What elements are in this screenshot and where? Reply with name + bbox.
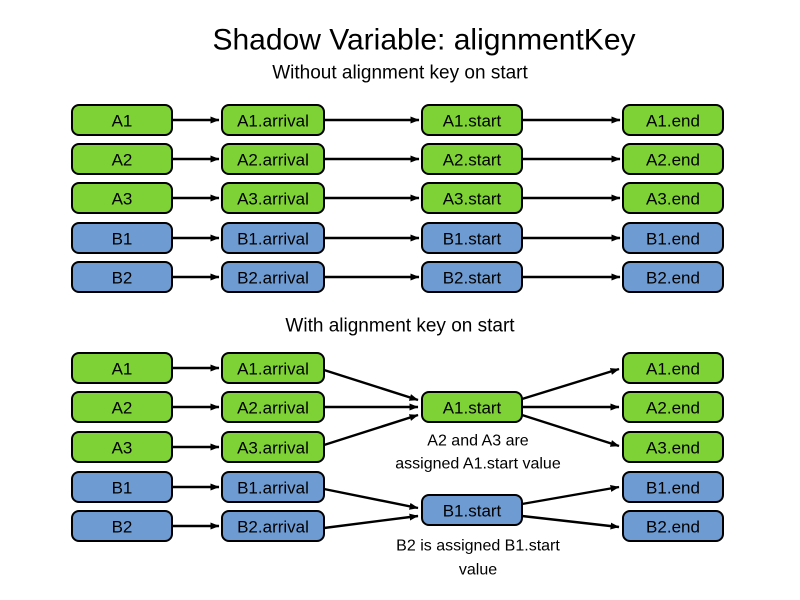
s2-box-end-b2[interactable]: B2.end	[623, 511, 723, 541]
edge2-a3-arrival-to-shared-start-a	[324, 415, 418, 445]
slide-canvas: Shadow Variable: alignmentKey Without al…	[0, 0, 800, 600]
s2-box-arrival-a1-label: A1.arrival	[237, 360, 309, 379]
s2-box-end-a2-label: A2.end	[646, 399, 700, 418]
note-a-line2: assigned A1.start value	[395, 456, 561, 473]
s2-box-end-a3-label: A3.end	[646, 439, 700, 458]
s1-box-end-a1[interactable]: A1.end	[623, 105, 723, 135]
s2-box-shared-start-b[interactable]: B1.start	[422, 495, 522, 525]
s1-box-start-b1[interactable]: B1.start	[422, 223, 522, 253]
s2-box-arrival-b2[interactable]: B2.arrival	[222, 511, 324, 541]
s1-box-entity-b2-label: B2	[112, 269, 133, 288]
edge2-b2-arrival-to-shared-start-b	[324, 516, 418, 528]
s1-box-arrival-a1-label: A1.arrival	[237, 112, 309, 131]
s2-box-end-b2-label: B2.end	[646, 518, 700, 537]
s2-box-arrival-a3[interactable]: A3.arrival	[222, 432, 324, 462]
s1-box-entity-a1[interactable]: A1	[72, 105, 172, 135]
s2-box-end-a1-label: A1.end	[646, 360, 700, 379]
s1-box-start-a1[interactable]: A1.start	[422, 105, 522, 135]
edge2-a1-arrival-to-shared-start-a	[324, 370, 418, 400]
note-a-line1: A2 and A3 are	[427, 433, 529, 450]
edge2-shared-start-b-to-b1-end	[522, 487, 619, 504]
s2-box-arrival-a3-label: A3.arrival	[237, 439, 309, 458]
s1-box-end-a3[interactable]: A3.end	[623, 183, 723, 213]
s2-box-arrival-b1[interactable]: B1.arrival	[222, 472, 324, 502]
edge2-shared-start-a-to-a3-end	[522, 415, 619, 446]
s1-box-start-a2-label: A2.start	[443, 151, 502, 170]
s1-box-arrival-a1[interactable]: A1.arrival	[222, 105, 324, 135]
slide-title: Shadow Variable: alignmentKey	[212, 24, 635, 57]
s2-box-entity-a3-label: A3	[112, 439, 133, 458]
s2-box-shared-start-b-label: B1.start	[443, 502, 502, 521]
s1-box-arrival-a3-label: A3.arrival	[237, 190, 309, 209]
s1-box-arrival-b1-label: B1.arrival	[237, 230, 309, 249]
s2-box-arrival-a2-label: A2.arrival	[237, 399, 309, 418]
s2-box-end-b1[interactable]: B1.end	[623, 472, 723, 502]
s1-box-start-a3[interactable]: A3.start	[422, 183, 522, 213]
s2-box-shared-start-a-label: A1.start	[443, 399, 502, 418]
edge2-shared-start-a-to-a1-end	[522, 369, 619, 399]
s1-box-entity-b2[interactable]: B2	[72, 262, 172, 292]
s2-box-end-a3[interactable]: A3.end	[623, 432, 723, 462]
section-heading-without-alignment-key: Without alignment key on start	[272, 63, 528, 84]
note-b-line2: value	[459, 562, 497, 579]
s1-box-entity-a2-label: A2	[112, 151, 133, 170]
s1-box-arrival-a2[interactable]: A2.arrival	[222, 144, 324, 174]
s1-box-entity-b1-label: B1	[112, 230, 133, 249]
s2-box-entity-a3[interactable]: A3	[72, 432, 172, 462]
s1-box-end-a2[interactable]: A2.end	[623, 144, 723, 174]
s1-box-start-b2[interactable]: B2.start	[422, 262, 522, 292]
s2-box-end-a2[interactable]: A2.end	[623, 392, 723, 422]
s1-box-arrival-b2[interactable]: B2.arrival	[222, 262, 324, 292]
s1-box-arrival-b1[interactable]: B1.arrival	[222, 223, 324, 253]
s1-box-arrival-a2-label: A2.arrival	[237, 151, 309, 170]
s1-box-end-b2-label: B2.end	[646, 269, 700, 288]
s2-box-entity-b2[interactable]: B2	[72, 511, 172, 541]
s1-box-entity-a3[interactable]: A3	[72, 183, 172, 213]
s1-box-end-a3-label: A3.end	[646, 190, 700, 209]
s1-box-entity-b1[interactable]: B1	[72, 223, 172, 253]
s1-box-end-b2[interactable]: B2.end	[623, 262, 723, 292]
s2-box-end-b1-label: B1.end	[646, 479, 700, 498]
edge2-b1-arrival-to-shared-start-b	[324, 489, 418, 508]
diagram-svg: Shadow Variable: alignmentKey Without al…	[0, 0, 800, 600]
s1-box-arrival-b2-label: B2.arrival	[237, 269, 309, 288]
s2-box-shared-start-a[interactable]: A1.start	[422, 392, 522, 422]
s2-box-entity-a2[interactable]: A2	[72, 392, 172, 422]
edge2-shared-start-b-to-b2-end	[522, 516, 619, 527]
s2-box-end-a1[interactable]: A1.end	[623, 353, 723, 383]
s1-box-start-a1-label: A1.start	[443, 112, 502, 131]
s2-box-arrival-a2[interactable]: A2.arrival	[222, 392, 324, 422]
s1-box-start-a2[interactable]: A2.start	[422, 144, 522, 174]
s1-box-end-a2-label: A2.end	[646, 151, 700, 170]
s1-box-start-a3-label: A3.start	[443, 190, 502, 209]
s2-box-arrival-b2-label: B2.arrival	[237, 518, 309, 537]
s2-box-entity-b1-label: B1	[112, 479, 133, 498]
s2-box-arrival-b1-label: B1.arrival	[237, 479, 309, 498]
section-heading-with-alignment-key: With alignment key on start	[285, 316, 515, 337]
s1-box-end-b1[interactable]: B1.end	[623, 223, 723, 253]
s1-box-end-b1-label: B1.end	[646, 230, 700, 249]
s2-box-entity-b1[interactable]: B1	[72, 472, 172, 502]
s2-box-entity-b2-label: B2	[112, 518, 133, 537]
s1-box-start-b2-label: B2.start	[443, 269, 502, 288]
note-b-line1: B2 is assigned B1.start	[396, 538, 560, 555]
s1-box-start-b1-label: B1.start	[443, 230, 502, 249]
s2-box-arrival-a1[interactable]: A1.arrival	[222, 353, 324, 383]
s1-box-entity-a1-label: A1	[112, 112, 133, 131]
s2-box-entity-a1[interactable]: A1	[72, 353, 172, 383]
s1-box-entity-a3-label: A3	[112, 190, 133, 209]
s1-box-entity-a2[interactable]: A2	[72, 144, 172, 174]
s1-box-end-a1-label: A1.end	[646, 112, 700, 131]
s2-box-entity-a2-label: A2	[112, 399, 133, 418]
s2-box-entity-a1-label: A1	[112, 360, 133, 379]
s1-box-arrival-a3[interactable]: A3.arrival	[222, 183, 324, 213]
